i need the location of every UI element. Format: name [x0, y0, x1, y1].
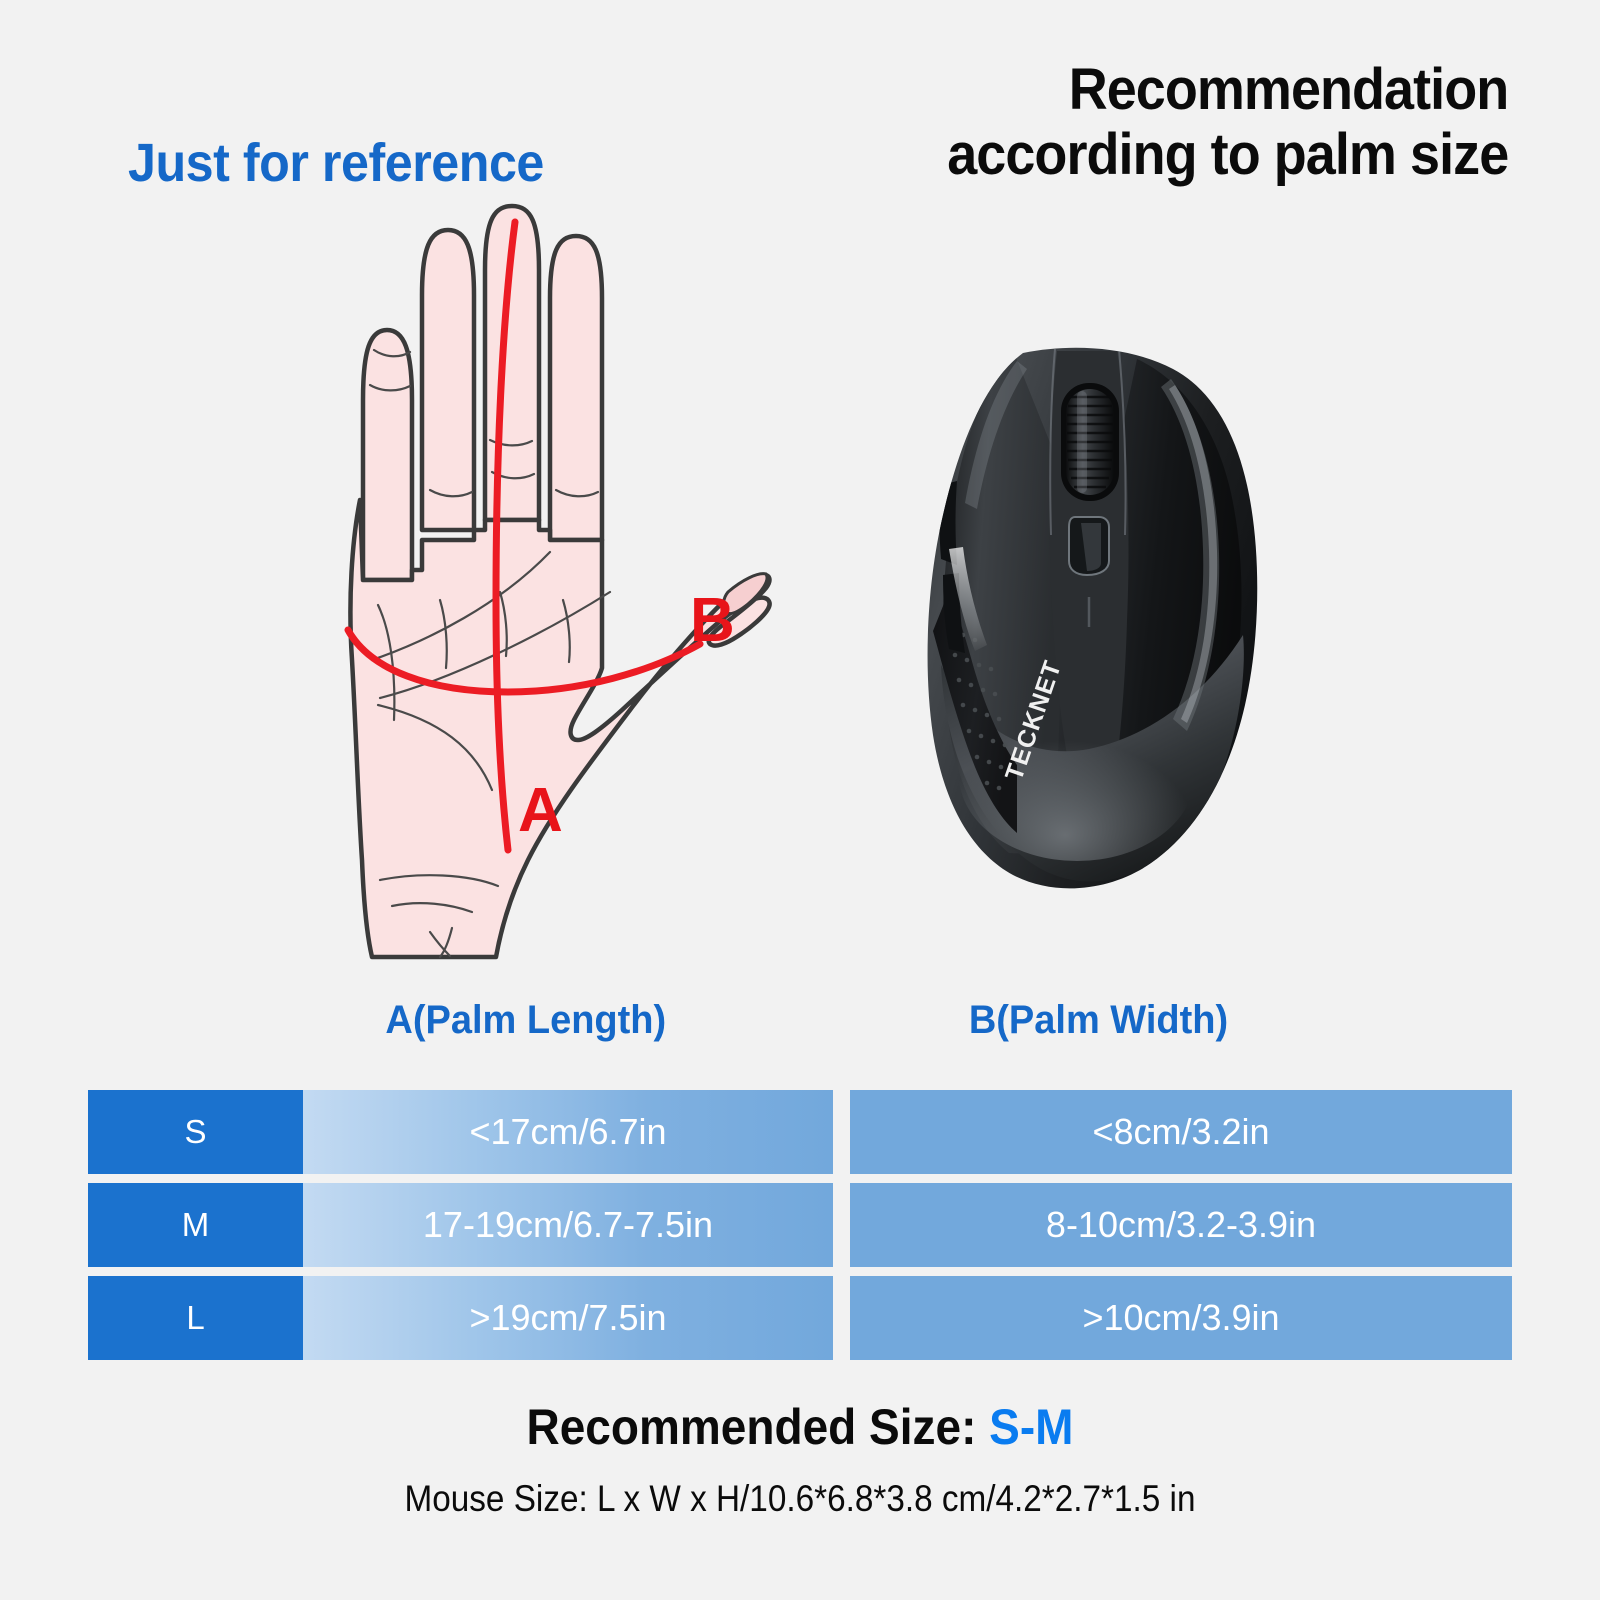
- mouse-product-image: [905, 335, 1285, 905]
- palm-length-value: 17-19cm/6.7-7.5in: [303, 1183, 833, 1267]
- size-table: S <17cm/6.7in <8cm/3.2in M 17-19cm/6.7-7…: [88, 1090, 1512, 1369]
- column-gap: [833, 1183, 850, 1267]
- column-gap: [833, 1276, 850, 1360]
- recommended-size-value: S-M: [989, 1399, 1073, 1455]
- mouse-dimensions: Mouse Size: L x W x H/10.6*6.8*3.8 cm/4.…: [80, 1478, 1520, 1520]
- column-header-palm-length: A(Palm Length): [385, 998, 666, 1043]
- size-label: M: [88, 1183, 303, 1267]
- table-row: S <17cm/6.7in <8cm/3.2in: [88, 1090, 1512, 1174]
- page-title: Recommendation according to palm size: [947, 58, 1508, 188]
- table-row: L >19cm/7.5in >10cm/3.9in: [88, 1276, 1512, 1360]
- reference-note: Just for reference: [128, 132, 544, 194]
- page-title-line-1: Recommendation: [947, 58, 1508, 123]
- measurement-label-a: A: [518, 780, 563, 842]
- column-header-palm-width: B(Palm Width): [969, 998, 1228, 1043]
- size-label: L: [88, 1276, 303, 1360]
- hand-diagram: [300, 200, 800, 960]
- recommended-size-label: Recommended Size:: [527, 1399, 990, 1455]
- size-label: S: [88, 1090, 303, 1174]
- palm-width-value: >10cm/3.9in: [850, 1276, 1512, 1360]
- column-gap: [833, 1090, 850, 1174]
- recommended-size: Recommended Size: S-M: [64, 1398, 1536, 1456]
- palm-length-value: >19cm/7.5in: [303, 1276, 833, 1360]
- palm-width-value: <8cm/3.2in: [850, 1090, 1512, 1174]
- palm-length-value: <17cm/6.7in: [303, 1090, 833, 1174]
- measurement-label-b: B: [690, 590, 735, 652]
- palm-width-value: 8-10cm/3.2-3.9in: [850, 1183, 1512, 1267]
- page-title-line-2: according to palm size: [947, 123, 1508, 188]
- table-row: M 17-19cm/6.7-7.5in 8-10cm/3.2-3.9in: [88, 1183, 1512, 1267]
